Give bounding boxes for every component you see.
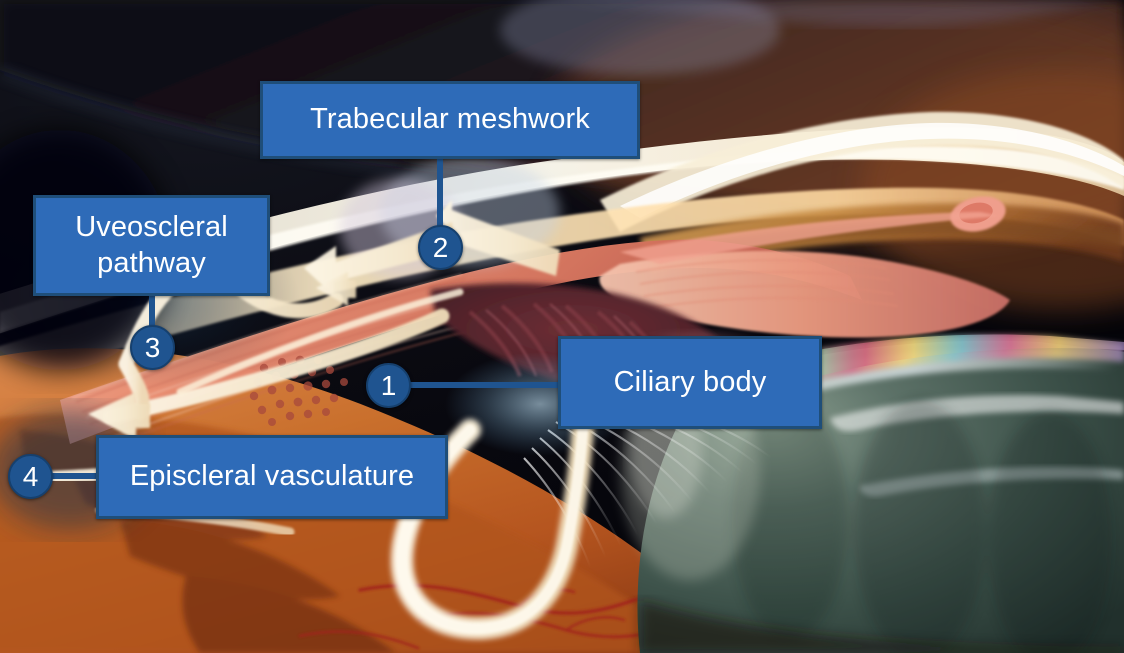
figure-canvas: Trabecular meshwork Uveoscleral pathway …	[0, 0, 1124, 653]
callout-label-text: Episcleral vasculature	[122, 459, 422, 494]
callout-label-text: Uveoscleral pathway	[67, 210, 236, 281]
marker-number: 1	[381, 372, 397, 400]
callout-label-ciliary-body[interactable]: Ciliary body	[558, 336, 822, 429]
marker-2-trabecular-meshwork[interactable]: 2	[418, 225, 463, 270]
leader-line-ciliary	[408, 382, 561, 388]
marker-number: 3	[145, 334, 161, 362]
callout-label-trabecular-meshwork[interactable]: Trabecular meshwork	[260, 81, 640, 159]
leader-line-trabecular	[437, 156, 443, 228]
callout-label-text: Ciliary body	[606, 365, 775, 400]
marker-1-ciliary-body[interactable]: 1	[366, 363, 411, 408]
callout-label-episcleral-vasculature[interactable]: Episcleral vasculature	[96, 435, 448, 519]
marker-3-uveoscleral-pathway[interactable]: 3	[130, 325, 175, 370]
leader-line-uveoscleral	[149, 293, 155, 328]
leader-line-episcleral	[50, 473, 99, 479]
marker-number: 2	[433, 234, 449, 262]
marker-number: 4	[23, 463, 39, 491]
callout-label-text: Trabecular meshwork	[302, 102, 598, 137]
marker-4-episcleral-vasculature[interactable]: 4	[8, 454, 53, 499]
callout-label-uveoscleral-pathway[interactable]: Uveoscleral pathway	[33, 195, 270, 296]
